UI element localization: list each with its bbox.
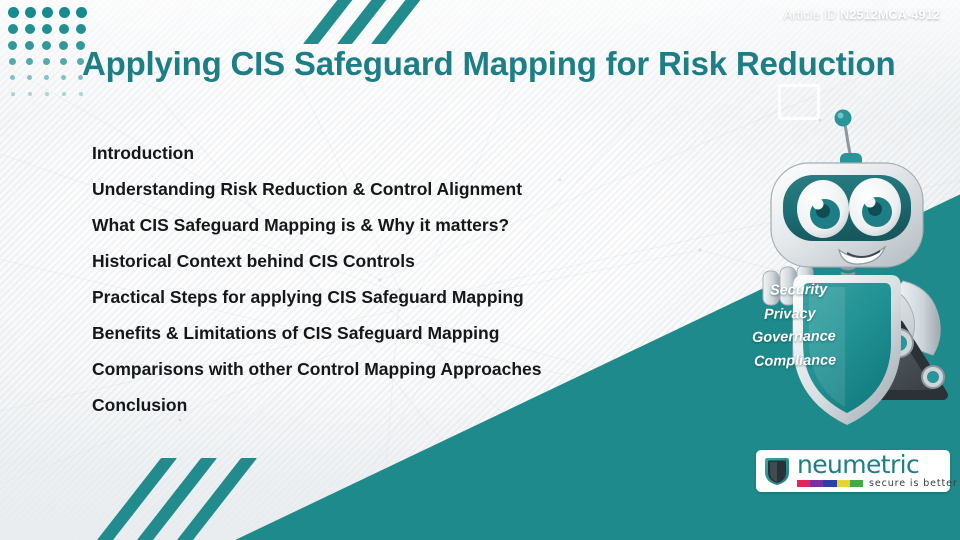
page-title: Applying CIS Safeguard Mapping for Risk … xyxy=(82,45,942,83)
logo-shield-icon xyxy=(764,456,790,486)
article-id: Article ID N2512MCA-4912 xyxy=(784,8,940,22)
article-id-label: Article ID xyxy=(784,8,837,22)
robot-mascot-illustration xyxy=(735,105,960,435)
toc-item-introduction[interactable]: Introduction xyxy=(92,136,652,172)
top-diagonal-stripes xyxy=(322,0,452,40)
toc-item-comparisons[interactable]: Comparisons with other Control Mapping A… xyxy=(92,352,652,388)
article-id-value: N2512MCA-4912 xyxy=(840,8,940,22)
logo-tagline: secure is better xyxy=(869,478,958,489)
logo-subline: secure is better xyxy=(797,478,958,489)
bottom-diagonal-stripes xyxy=(118,456,268,540)
toc-item-what-cis-safeguard-mapping[interactable]: What CIS Safeguard Mapping is & Why it m… xyxy=(92,208,652,244)
toc-item-practical-steps[interactable]: Practical Steps for applying CIS Safegua… xyxy=(92,280,652,316)
dot-grid-decoration xyxy=(6,5,80,113)
table-of-contents: Introduction Understanding Risk Reductio… xyxy=(92,136,652,424)
toc-item-understanding-risk-reduction[interactable]: Understanding Risk Reduction & Control A… xyxy=(92,172,652,208)
logo-wordmark: neumetric xyxy=(797,453,958,477)
toc-item-historical-context[interactable]: Historical Context behind CIS Controls xyxy=(92,244,652,280)
toc-item-conclusion[interactable]: Conclusion xyxy=(92,388,652,424)
toc-item-benefits-limitations[interactable]: Benefits & Limitations of CIS Safeguard … xyxy=(92,316,652,352)
neumetric-logo[interactable]: neumetric secure is better xyxy=(756,450,950,492)
logo-text-block: neumetric secure is better xyxy=(797,453,958,490)
logo-color-bars xyxy=(797,480,863,487)
presentation-slide: Article ID N2512MCA-4912 Applying CIS Sa… xyxy=(0,0,960,540)
